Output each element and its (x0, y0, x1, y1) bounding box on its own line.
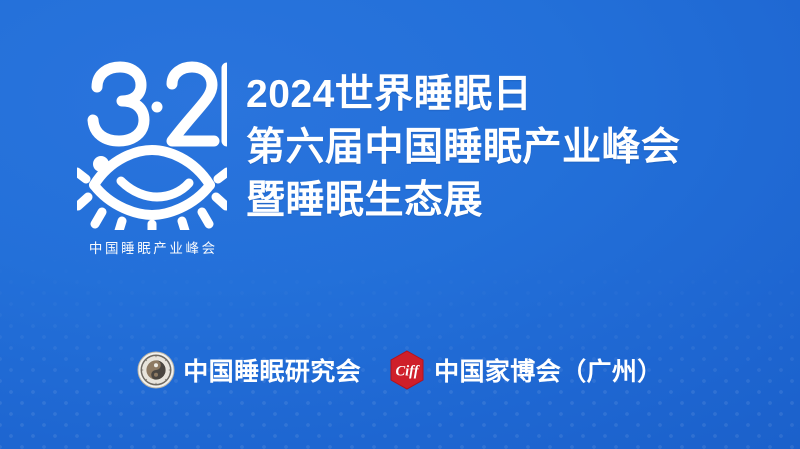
summit-emblem: 中国睡眠产业峰会 (72, 58, 232, 257)
title-line-3: 暨睡眠生态展 (246, 174, 681, 227)
poster-header: 中国睡眠产业峰会 2024世界睡眠日 第六届中国睡眠产业峰会 暨睡眠生态展 (72, 58, 681, 257)
title-line-1: 2024世界睡眠日 (246, 68, 681, 121)
organizer-cssr: 中国睡眠研究会 (137, 351, 361, 389)
sleeping-eye-sunburst-icon (77, 60, 227, 230)
cssr-circular-seal-icon (137, 351, 175, 389)
title-line-2: 第六届中国睡眠产业峰会 (246, 121, 681, 174)
organizer-bar: 中国睡眠研究会 Ciff 中国家博会（广州） (0, 350, 800, 390)
organizer-cssr-name: 中国睡眠研究会 (183, 352, 361, 388)
poster-title-group: 2024世界睡眠日 第六届中国睡眠产业峰会 暨睡眠生态展 (246, 58, 681, 227)
ciff-wordmark: Ciff (396, 364, 421, 380)
ciff-hexagon-icon: Ciff (389, 350, 425, 390)
emblem-caption: 中国睡眠产业峰会 (86, 237, 217, 257)
event-poster: 中国睡眠产业峰会 2024世界睡眠日 第六届中国睡眠产业峰会 暨睡眠生态展 (0, 0, 800, 449)
organizer-ciff-name: 中国家博会（广州） (434, 352, 663, 388)
organizer-ciff: Ciff 中国家博会（广州） (389, 350, 663, 390)
